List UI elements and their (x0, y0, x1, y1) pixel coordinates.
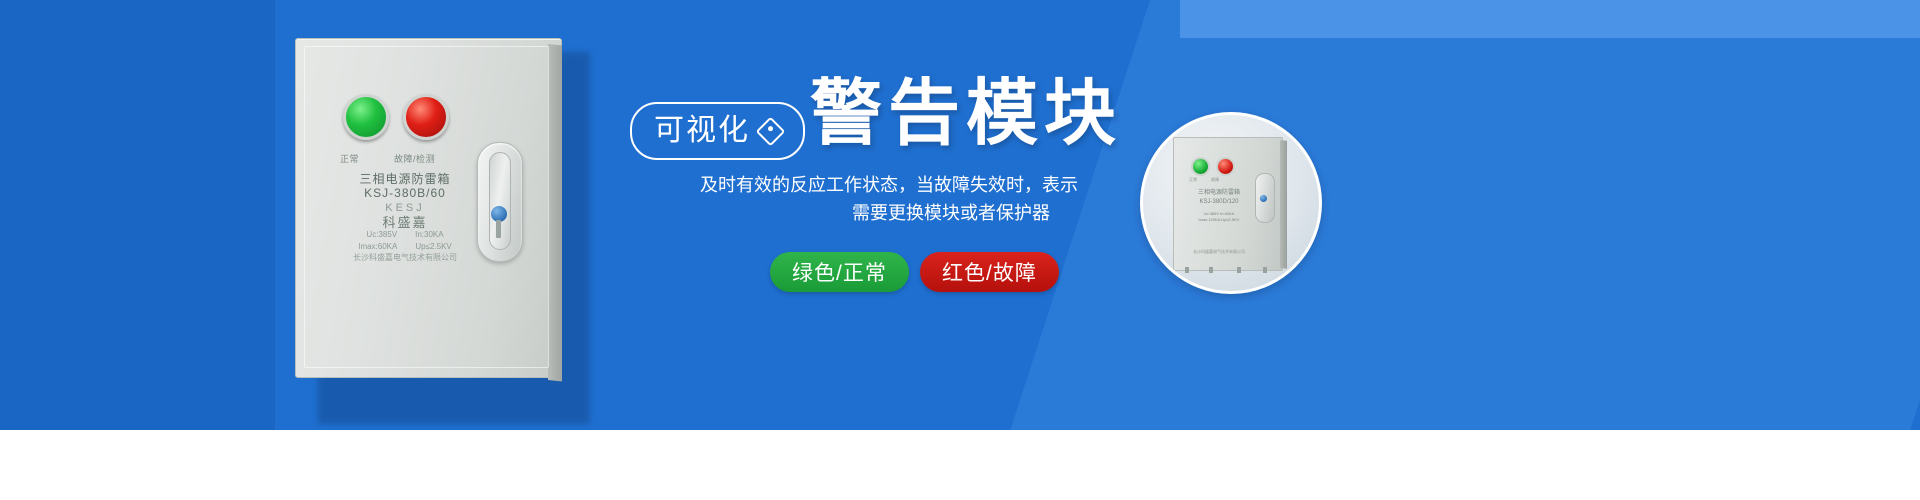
product-panel-title: 三相电源防雷箱 (310, 170, 500, 187)
inset-door-lock-icon (1260, 195, 1267, 202)
background-white-footer (0, 430, 1920, 500)
subheadline: 及时有效的反应工作状态，当故障失效时，表示 需要更换模块或者保护器 (700, 172, 1050, 228)
inset-indicator-fault-label: 故障 (1211, 177, 1219, 183)
inset-company-name: 长沙科盛嘉电气技术有限公司 (1173, 249, 1265, 255)
inset-indicator-lamp-red (1216, 157, 1235, 176)
door-key-icon (496, 220, 501, 238)
status-tag-fault: 红色/故障 (920, 252, 1059, 292)
product-panel-model: KSJ-380B/60 (310, 186, 500, 200)
product-spec-uc: Uc:385V (366, 230, 397, 239)
product-brand-cn: 科盛嘉 (310, 212, 500, 231)
inset-mounting-feet (1185, 267, 1269, 273)
inset-spec-line-2: Imax:120KA Up≤2.5KV (1173, 217, 1265, 223)
product-spec-row-2: Imax:60KA Up≤2.5KV (310, 242, 500, 251)
headline: 警告模块 (810, 78, 1122, 150)
product-spec-row-1: Uc:385V In:30KA (310, 230, 500, 239)
promo-banner: 正常 故障/检测 三相电源防雷箱 KSJ-380B/60 KESJ 科盛嘉 Uc… (0, 0, 1920, 500)
indicator-lamp-red (403, 94, 449, 140)
subheadline-line-1: 及时有效的反应工作状态，当故障失效时，表示 (700, 172, 1050, 200)
inset-panel-model: KSJ-380D/120 (1173, 199, 1265, 205)
inset-panel-title: 三相电源防雷箱 (1173, 187, 1265, 196)
inset-spec-lines: Uc:385V In:40KA Imax:120KA Up≤2.5KV (1173, 211, 1265, 223)
background-top-strip (1180, 0, 1920, 38)
status-tag-normal: 绿色/正常 (770, 252, 909, 292)
diamond-icon (756, 116, 786, 146)
product-spec-up: Up≤2.5KV (415, 242, 451, 251)
product-company-name: 长沙科盛嘉电气技术有限公司 (310, 252, 500, 263)
product-enclosure-side (548, 44, 562, 381)
visual-pill-label: 可视化 (654, 116, 750, 146)
product-inset-circle: 正常 故障 三相电源防雷箱 KSJ-380D/120 Uc:385V In:40… (1140, 112, 1322, 294)
inset-enclosure-side (1280, 140, 1287, 269)
visual-pill: 可视化 (630, 102, 805, 160)
indicator-lamp-green (343, 94, 389, 140)
indicator-fault-label: 故障/检测 (394, 152, 435, 165)
product-spec-in: In:30KA (415, 230, 443, 239)
inset-indicator-lamp-green (1191, 157, 1210, 176)
background-left-block (0, 0, 275, 430)
product-spec-imax: Imax:60KA (358, 242, 397, 251)
indicator-normal-label: 正常 (340, 152, 359, 165)
subheadline-line-2: 需要更换模块或者保护器 (700, 200, 1050, 228)
inset-indicator-normal-label: 正常 (1189, 177, 1197, 183)
